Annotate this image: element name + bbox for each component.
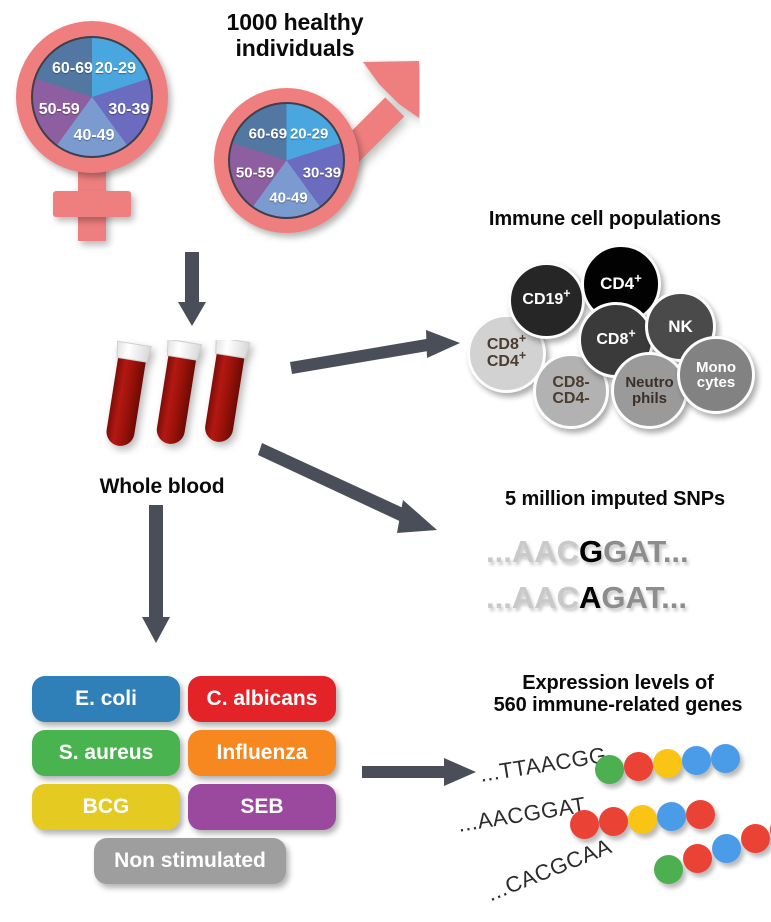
- immune-cell-label: CD8+CD4+: [487, 337, 526, 370]
- snp-allele-2-prefix: ...AAC: [486, 580, 579, 615]
- stimulus-label: S. aureus: [59, 741, 154, 765]
- expression-strand-3-sequence: ...CACGCAA: [483, 833, 615, 907]
- age-group-label: 20-29: [290, 126, 328, 143]
- expression-bead: [741, 824, 770, 853]
- expression-bead: [654, 855, 683, 884]
- arrow-blood-to-snps: [262, 440, 442, 540]
- arrow-blood-to-immune: [290, 330, 460, 375]
- age-group-label: 50-59: [39, 101, 80, 119]
- expression-bead: [682, 746, 711, 775]
- stimulus-influenza[interactable]: Influenza: [188, 730, 336, 776]
- stimulus-label: C. albicans: [207, 687, 318, 711]
- arrow-blood-to-stimuli: [140, 505, 172, 645]
- immune-cell-label: CD8-CD4-: [552, 375, 589, 408]
- stimulus-label: E. coli: [75, 687, 137, 711]
- expression-bead: [711, 744, 740, 773]
- stimulus-label: Influenza: [216, 741, 307, 765]
- immune-cell-label: CD19+: [522, 292, 570, 308]
- age-group-label: 30-39: [108, 101, 149, 119]
- expression-bead: [599, 807, 628, 836]
- snp-allele-1: ...AACGGAT...: [486, 534, 689, 570]
- snp-sequences: ...AACGGAT... ...AACAGAT...: [486, 528, 756, 626]
- male-mars-symbol: 20-2930-3940-4950-5960-69: [205, 60, 420, 245]
- immune-cell-label: NK: [668, 318, 693, 335]
- arrow-stimuli-to-expression: [362, 758, 476, 786]
- immune-cell-label: Neutrophils: [625, 375, 673, 406]
- age-group-label: 30-39: [303, 165, 341, 182]
- female-venus-symbol: 20-2930-3940-4950-5960-69: [8, 18, 183, 243]
- whole-blood-label: Whole blood: [82, 475, 242, 499]
- stimulus-seb[interactable]: SEB: [188, 784, 336, 830]
- expression-strands: ...TTAACGG ...AACGGAT ...CACGCAA: [460, 740, 771, 915]
- stimulus-label: SEB: [240, 795, 283, 819]
- expression-bead: [653, 749, 682, 778]
- expression-bead: [686, 800, 715, 829]
- age-group-label: 50-59: [236, 165, 274, 182]
- cohort-title: 1000 healthy individuals: [175, 10, 415, 62]
- stimulus-bcg[interactable]: BCG: [32, 784, 180, 830]
- immune-cell-label: CD8+: [596, 332, 635, 348]
- expression-bead: [712, 834, 741, 863]
- snp-allele-1-base: G: [579, 534, 603, 569]
- immune-cell-cluster: CD8+CD4+ CD19+ CD8-CD4- CD4+ CD8+ NK Neu…: [465, 240, 765, 420]
- snps-title: 5 million imputed SNPs: [470, 488, 760, 510]
- arrow-cohort-to-blood: [176, 252, 208, 328]
- expression-bead: [570, 810, 599, 839]
- age-group-label: 60-69: [52, 60, 93, 78]
- immune-cell-cd19p: CD19+: [508, 262, 585, 339]
- snp-allele-1-prefix: ...AAC: [486, 534, 579, 569]
- stimulus-s-aureus[interactable]: S. aureus: [32, 730, 180, 776]
- expression-strand-1-sequence: ...TTAACGG: [478, 742, 609, 788]
- blood-tubes: [100, 340, 260, 455]
- stimulus-non-stimulated[interactable]: Non stimulated: [94, 838, 286, 884]
- snp-allele-2-base: A: [579, 580, 601, 615]
- age-pie-male: 20-2930-3940-4950-5960-69: [228, 102, 345, 219]
- expression-bead: [628, 805, 657, 834]
- cohort-title-line2: individuals: [175, 36, 415, 62]
- expression-title-line2: 560 immune-related genes: [470, 694, 766, 716]
- expression-bead: [657, 802, 686, 831]
- immune-cell-label: Monocytes: [696, 360, 736, 391]
- cohort-title-line1: 1000 healthy: [175, 10, 415, 36]
- stimulus-e-coli[interactable]: E. coli: [32, 676, 180, 722]
- snp-allele-1-suffix: GAT...: [603, 534, 689, 569]
- expression-bead: [624, 752, 653, 781]
- age-group-label: 40-49: [269, 189, 307, 206]
- age-pie-female: 20-2930-3940-4950-5960-69: [31, 36, 153, 158]
- snp-allele-2: ...AACAGAT...: [486, 580, 687, 616]
- age-group-label: 20-29: [95, 60, 136, 78]
- immune-cell-label: CD4+: [600, 275, 642, 292]
- stimulus-label: Non stimulated: [114, 849, 266, 873]
- expression-bead: [683, 844, 712, 873]
- immune-cell-neutrophils: Neutrophils: [611, 352, 688, 429]
- age-group-label: 40-49: [74, 127, 115, 145]
- venus-stem-horizontal: [53, 191, 131, 217]
- immune-title: Immune cell populations: [450, 208, 760, 230]
- snp-allele-2-suffix: GAT...: [601, 580, 687, 615]
- stimulus-c-albicans[interactable]: C. albicans: [188, 676, 336, 722]
- age-group-label: 60-69: [249, 126, 287, 143]
- expression-title: Expression levels of 560 immune-related …: [470, 672, 766, 717]
- stimuli-grid: E. coli C. albicans S. aureus Influenza …: [32, 676, 342, 891]
- expression-title-line1: Expression levels of: [470, 672, 766, 694]
- expression-bead: [595, 755, 624, 784]
- stimulus-label: BCG: [83, 795, 130, 819]
- expression-strand-2-sequence: ...AACGGAT: [456, 792, 588, 838]
- immune-cell-monocytes: Monocytes: [677, 336, 755, 414]
- expression-strand-3: ...CACGCAA: [488, 838, 771, 908]
